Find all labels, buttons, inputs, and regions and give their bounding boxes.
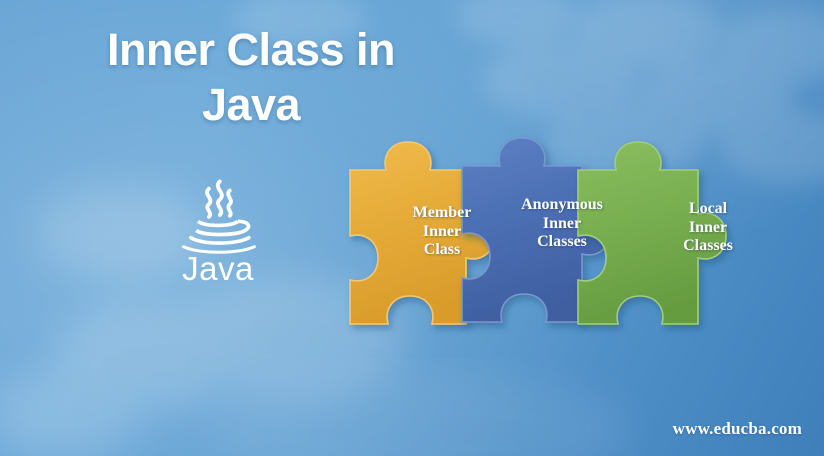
title-line-2: Java xyxy=(36,77,466,132)
java-logo: Java xyxy=(143,176,293,296)
footer-website-url: www.educba.com xyxy=(673,419,802,439)
puzzle-label-anonymous: Anonymous Inner Classes xyxy=(492,196,632,252)
puzzle-group: Member Inner Class Anonymous Inner Class… xyxy=(336,128,824,354)
puzzle-label-local: Local Inner Classes xyxy=(648,200,768,256)
page-title: Inner Class in Java xyxy=(36,22,466,133)
java-logo-wordmark: Java xyxy=(182,252,254,285)
slide-canvas: Inner Class in Java Java xyxy=(0,0,824,456)
title-line-1: Inner Class in xyxy=(36,22,466,77)
java-coffee-cup-icon xyxy=(172,176,264,254)
puzzle-label-member: Member Inner Class xyxy=(380,204,504,260)
